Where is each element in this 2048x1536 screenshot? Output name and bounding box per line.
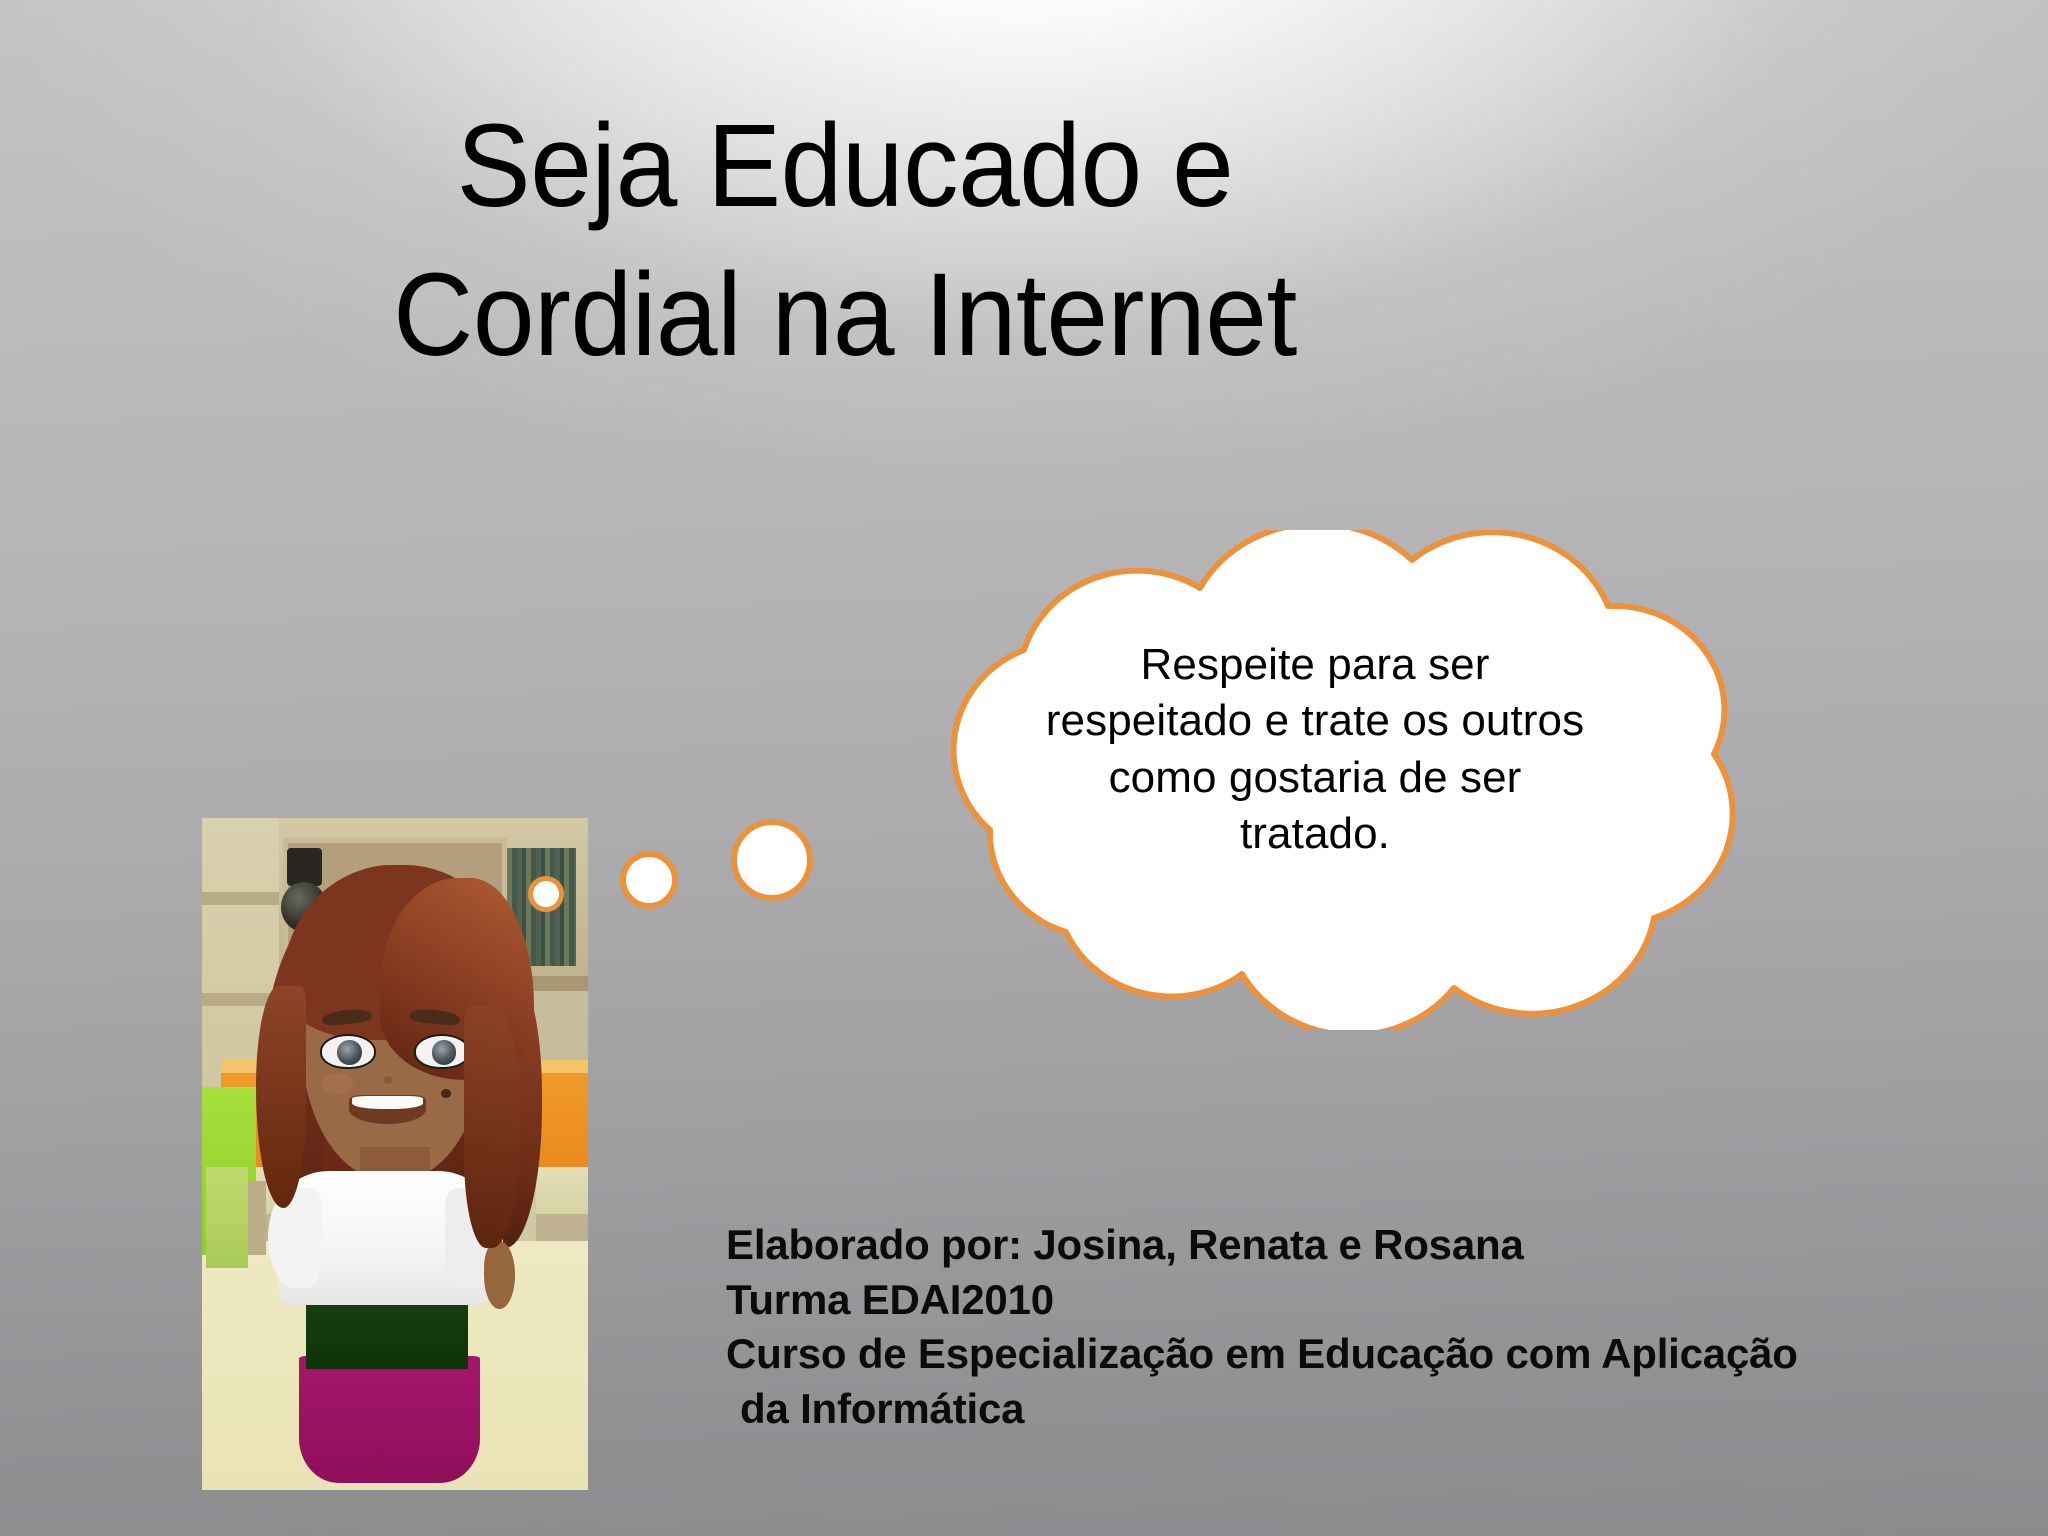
credits-line-authors: Elaborado por: Josina, Renata e Rosana [726, 1218, 1926, 1273]
avatar-skirt [299, 1356, 480, 1484]
credits-block: Elaborado por: Josina, Renata e Rosana T… [726, 1218, 1926, 1436]
bubble-line-2: respeitado e trate os outros [975, 693, 1655, 749]
title-line-1: Seja Educado e [220, 92, 1470, 241]
room-green-object-2 [206, 1167, 248, 1268]
avatar-cheek [322, 1073, 353, 1093]
avatar-image [202, 818, 588, 1490]
slide-title: Seja Educado e Cordial na Internet [220, 92, 1470, 389]
credits-line-course-2: da Informática [726, 1382, 1926, 1437]
avatar-hair-front-left [256, 986, 306, 1208]
avatar-arm-right [484, 1241, 515, 1308]
presentation-slide: Seja Educado e Cordial na Internet [0, 0, 2048, 1536]
avatar-teeth [352, 1096, 423, 1109]
room-knob-top [287, 848, 322, 886]
bubble-line-3: como gostaria de ser [975, 750, 1655, 806]
thought-bubble-dot-small [528, 876, 564, 912]
room-left-panel-line-1 [202, 892, 279, 905]
credits-line-class: Turma EDAI2010 [726, 1273, 1926, 1328]
avatar-beauty-mark [441, 1089, 450, 1098]
avatar-pupil-right [432, 1040, 457, 1064]
room-furniture-leg-left [248, 1181, 265, 1255]
thought-bubble-text: Respeite para ser respeitado e trate os … [975, 637, 1655, 862]
thought-bubble-dot-medium [620, 851, 678, 909]
avatar-pupil-left [337, 1040, 362, 1064]
bubble-line-1: Respeite para ser [975, 637, 1655, 693]
thought-bubble-dot-large [731, 819, 813, 901]
bubble-line-4: tratado. [975, 806, 1655, 862]
title-line-2: Cordial na Internet [220, 241, 1470, 390]
credits-line-course: Curso de Especialização em Educação com … [726, 1327, 1926, 1382]
